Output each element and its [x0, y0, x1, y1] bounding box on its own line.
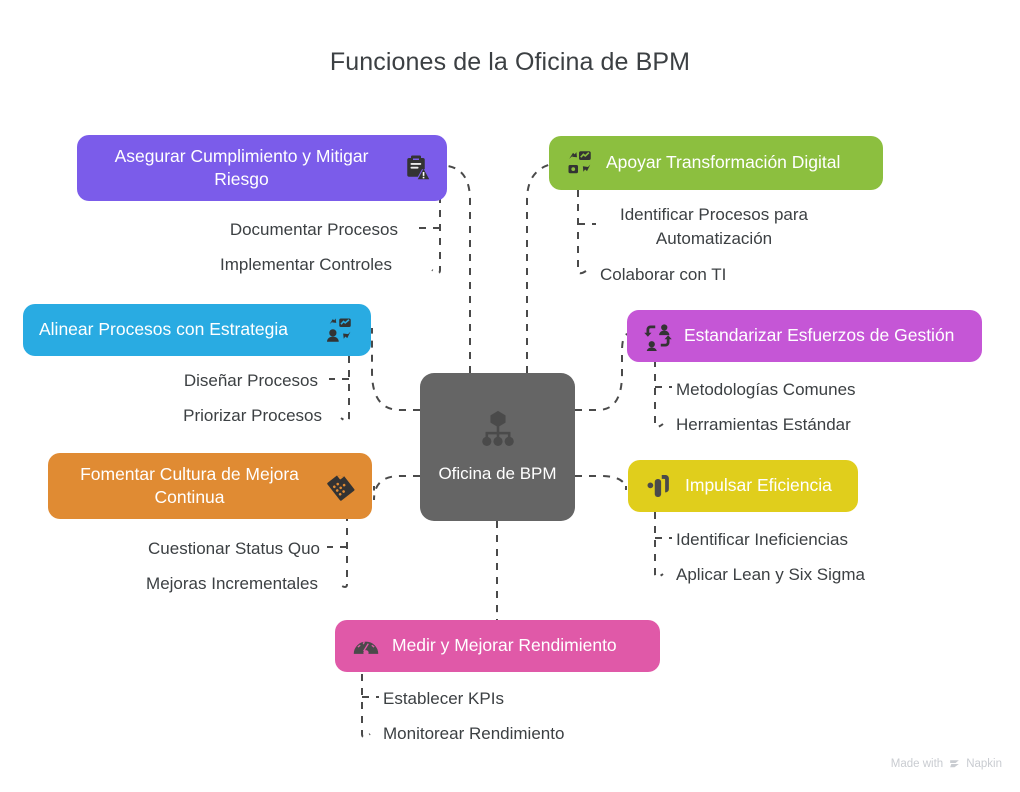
gauge-icon — [351, 631, 381, 661]
node-eficiencia[interactable]: Impulsar Eficiencia — [628, 460, 858, 512]
hierarchy-icon — [476, 408, 520, 457]
leaf-implementar-controles: Implementar Controles — [140, 253, 392, 277]
node-transformacion[interactable]: Apoyar Transformación Digital — [549, 136, 883, 190]
node-mejora-label: Fomentar Cultura de Mejora Continua — [64, 463, 315, 509]
wire-center-estrategia — [372, 328, 420, 410]
watermark-prefix: Made with — [891, 758, 943, 770]
node-estandarizar-label: Estandarizar Esfuerzos de Gestión — [684, 324, 954, 347]
leaf-documentar-procesos: Documentar Procesos — [140, 218, 398, 242]
leaf-herramientas-estandar: Herramientas Estándar — [676, 413, 976, 437]
leaf-metodologias-comunes: Metodologías Comunes — [676, 378, 976, 402]
watermark-brand: Napkin — [966, 758, 1002, 770]
node-rendimiento[interactable]: Medir y Mejorar Rendimiento — [335, 620, 660, 672]
node-estandarizar[interactable]: Estandarizar Esfuerzos de Gestión — [627, 310, 982, 362]
efficiency-flag-icon — [644, 471, 674, 501]
wire-center-eficiencia — [575, 476, 626, 490]
wire-transformacion-leaves — [578, 190, 586, 273]
node-cumplimiento[interactable]: Asegurar Cumplimiento y Mitigar Riesgo — [77, 135, 447, 201]
watermark: Made with Napkin — [891, 757, 1002, 770]
wire-cumplimiento-leaves — [432, 196, 440, 273]
wire-center-estandarizar — [575, 334, 628, 410]
leaf-priorizar-procesos: Priorizar Procesos — [100, 404, 322, 428]
wire-center-cumplimiento — [448, 166, 470, 373]
wire-estrategia-leaves — [341, 356, 349, 421]
wire-center-mejora — [374, 476, 420, 500]
leaf-establecer-kpis: Establecer KPIs — [383, 687, 683, 711]
node-estrategia[interactable]: Alinear Procesos con Estrategia — [23, 304, 371, 356]
leaf-identificar-ineficiencias: Identificar Ineficiencias — [676, 528, 976, 552]
node-estrategia-label: Alinear Procesos con Estrategia — [39, 318, 314, 341]
diagram-canvas: Funciones de la Oficina de BPM Oficina d… — [0, 0, 1020, 792]
node-cumplimiento-label: Asegurar Cumplimiento y Mitigar Riesgo — [93, 145, 390, 191]
leaf-aplicar-lean-six-sigma: Aplicar Lean y Six Sigma — [676, 563, 976, 587]
leaf-colaborar-ti: Colaborar con TI — [600, 263, 840, 287]
page-title: Funciones de la Oficina de BPM — [0, 48, 1020, 77]
person-strategy-icon — [325, 315, 355, 345]
center-node[interactable]: Oficina de BPM — [420, 373, 575, 521]
wire-estandarizar-leaves — [655, 360, 663, 427]
pencil-note-icon — [326, 471, 356, 501]
people-exchange-icon — [643, 321, 673, 351]
node-mejora[interactable]: Fomentar Cultura de Mejora Continua — [48, 453, 372, 519]
leaf-disenar-procesos: Diseñar Procesos — [100, 369, 318, 393]
clipboard-warning-icon — [401, 153, 431, 183]
wire-center-transformacion — [527, 164, 552, 373]
node-rendimiento-label: Medir y Mejorar Rendimiento — [392, 634, 617, 657]
wire-mejora-leaves — [339, 514, 347, 587]
digital-transformation-icon — [565, 148, 595, 178]
leaf-mejoras-incrementales: Mejoras Incrementales — [80, 572, 318, 596]
leaf-monitorear-rendimiento: Monitorear Rendimiento — [383, 722, 683, 746]
node-transformacion-label: Apoyar Transformación Digital — [606, 151, 840, 174]
wire-rendimiento-leaves — [362, 674, 370, 737]
napkin-logo-icon — [948, 757, 961, 770]
leaf-identificar-automatizacion: Identificar Procesos para Automatización — [600, 203, 828, 251]
leaf-cuestionar-status-quo: Cuestionar Status Quo — [80, 537, 320, 561]
node-eficiencia-label: Impulsar Eficiencia — [685, 474, 832, 497]
wire-eficiencia-leaves — [655, 512, 663, 577]
center-node-label: Oficina de BPM — [438, 463, 556, 485]
